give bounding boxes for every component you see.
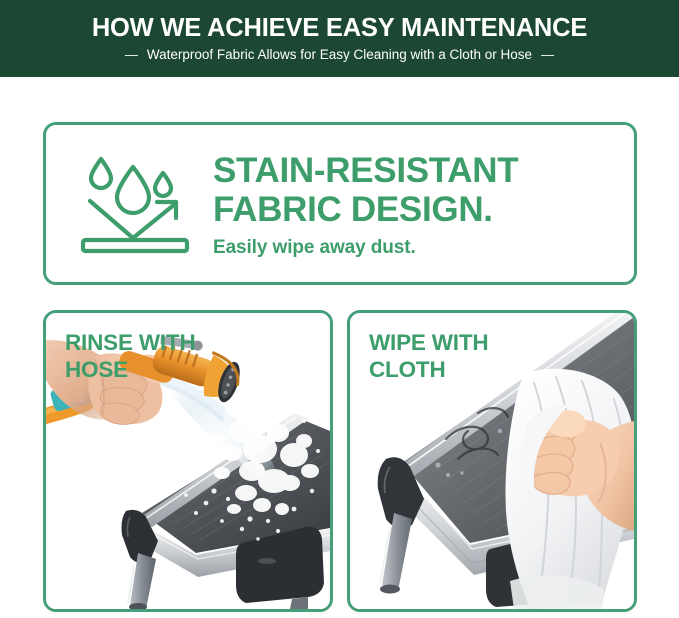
feature-heading-line-1: STAIN-RESISTANT bbox=[213, 152, 518, 190]
dash-left-icon: — bbox=[125, 48, 138, 61]
page-title: HOW WE ACHIEVE EASY MAINTENANCE bbox=[92, 16, 587, 42]
water-repellent-fabric-icon bbox=[78, 152, 193, 256]
rinse-card-title: RINSE WITH HOSE bbox=[65, 329, 196, 384]
feature-heading-line-2: FABRIC DESIGN. bbox=[213, 191, 518, 229]
page-subtitle: Waterproof Fabric Allows for Easy Cleani… bbox=[147, 48, 532, 62]
feature-subheading: Easily wipe away dust. bbox=[213, 238, 518, 257]
feature-card: STAIN-RESISTANT FABRIC DESIGN. Easily wi… bbox=[43, 122, 637, 285]
subtitle-row: — Waterproof Fabric Allows for Easy Clea… bbox=[125, 48, 554, 62]
feature-text-block: STAIN-RESISTANT FABRIC DESIGN. Easily wi… bbox=[213, 150, 518, 256]
dash-right-icon: — bbox=[541, 48, 554, 61]
rinse-with-hose-card: RINSE WITH HOSE bbox=[43, 310, 333, 612]
wipe-with-cloth-card: WIPE WITH CLOTH bbox=[347, 310, 637, 612]
page-header: HOW WE ACHIEVE EASY MAINTENANCE — Waterp… bbox=[0, 0, 679, 77]
wipe-card-title: WIPE WITH CLOTH bbox=[369, 329, 488, 384]
infographic-page: HOW WE ACHIEVE EASY MAINTENANCE — Waterp… bbox=[0, 0, 679, 618]
